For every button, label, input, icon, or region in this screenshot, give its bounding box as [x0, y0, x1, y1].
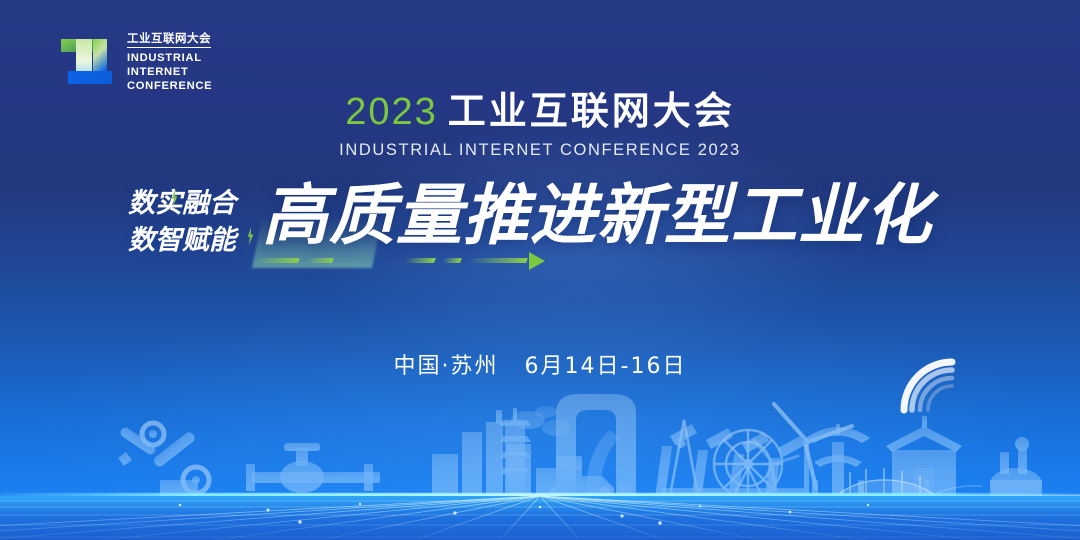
slogan-secondary-text-2: 数智赋能	[128, 225, 236, 256]
slogan-secondary-line-2: 数智赋能	[128, 222, 268, 259]
slogan-secondary: 数实融合 数智赋能	[128, 185, 268, 260]
pipe-valve-icon	[246, 443, 380, 493]
logo-en-line-2: INTERNET	[127, 65, 212, 79]
perspective-grid-floor	[0, 496, 1080, 540]
slogan-headline: 高质量推进新型工业化	[262, 176, 932, 257]
logo-mark-icon	[56, 31, 118, 93]
conference-year: 2023	[345, 91, 438, 133]
speed-streak-accents	[255, 254, 895, 272]
streak	[468, 258, 528, 263]
conference-title-block: 2023工业互联网大会 INDUSTRIAL INTERNET CONFEREN…	[0, 92, 1080, 160]
brand-logo[interactable]: 工业互联网大会 INDUSTRIAL INTERNET CONFERENCE	[56, 30, 212, 93]
streak	[404, 258, 436, 263]
streak	[306, 258, 334, 263]
streak	[442, 258, 462, 263]
logo-chinese-name: 工业互联网大会	[127, 33, 211, 48]
robot-arm-icon	[118, 423, 209, 496]
logo-en-line-1: INDUSTRIAL	[127, 51, 212, 65]
slogan-secondary-text-1: 数实融合	[128, 188, 236, 219]
conference-title: 2023工业互联网大会	[0, 92, 1080, 133]
logo-wordmark: 工业互联网大会 INDUSTRIAL INTERNET CONFERENCE	[127, 30, 212, 93]
grid-lines	[0, 496, 1080, 540]
conference-title-en: INDUSTRIAL INTERNET CONFERENCE 2023	[0, 141, 1080, 160]
conference-title-cn: 工业互联网大会	[448, 89, 735, 133]
slogan-secondary-line-1: 数实融合	[128, 185, 268, 222]
gate-of-the-orient-icon	[556, 394, 636, 496]
conference-poster: 工业互联网大会 INDUSTRIAL INTERNET CONFERENCE 2…	[0, 0, 1080, 540]
slogan-block: 数实融合 数智赋能 高质量推进新型工业化	[0, 180, 1080, 285]
logo-english-name: INDUSTRIAL INTERNET CONFERENCE	[127, 51, 212, 94]
